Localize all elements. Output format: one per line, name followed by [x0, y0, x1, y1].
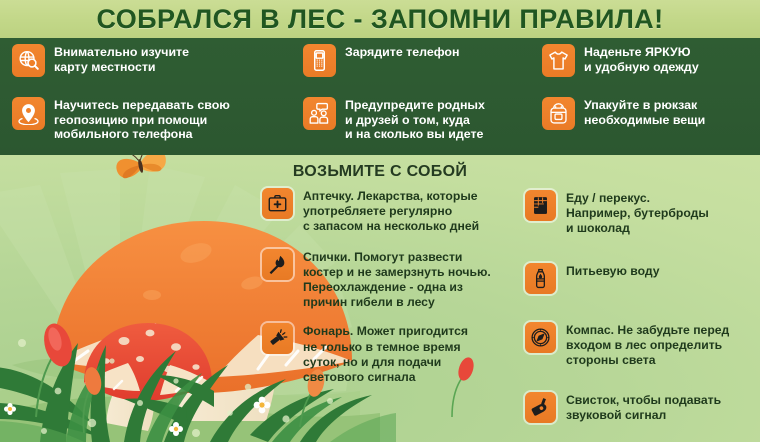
take-item-label: Питьевую воду	[566, 263, 660, 279]
rule-item-label: Зарядите телефон	[345, 44, 459, 60]
first-aid-kit-icon	[262, 188, 293, 219]
mobile-phone-icon	[303, 44, 336, 77]
rule-item-clothing: Наденьте ЯРКУЮи удобную одежду	[530, 38, 760, 93]
rule-item-label: Научитесь передавать своюгеопозицию при …	[54, 97, 230, 142]
take-item-label: Еду / перекус.Например, бутербродыи шоко…	[566, 190, 709, 237]
backpack-icon	[542, 97, 575, 130]
take-list-right: Еду / перекус.Например, бутербродыи шоко…	[525, 190, 760, 434]
take-item-whistle: Свисток, чтобы подаватьзвуковой сигнал	[525, 392, 760, 423]
globe-search-icon	[12, 44, 45, 77]
take-list-left: Аптечку. Лекарства, которыеупотребляете …	[262, 188, 512, 399]
take-item-first-aid: Аптечку. Лекарства, которыеупотребляете …	[262, 188, 512, 235]
rule-item-backpack: Упакуйте в рюкзакнеобходимые вещи	[530, 93, 760, 155]
location-pin-icon	[12, 97, 45, 130]
whistle-icon	[525, 392, 556, 423]
section-title: ВОЗЬМИТЕ С СОБОЙ	[0, 163, 760, 181]
rule-item-label: Предупредите родныхи друзей о том, кудаи…	[345, 97, 485, 142]
take-item-label: Компас. Не забудьте передвходом в лес оп…	[566, 322, 729, 369]
rule-item-label: Внимательно изучитекарту местности	[54, 44, 189, 74]
tshirt-icon	[542, 44, 575, 77]
people-chat-icon	[303, 97, 336, 130]
rules-panel: Внимательно изучитекарту местности	[0, 38, 760, 155]
rule-item-phone: Зарядите телефон	[291, 38, 530, 93]
take-item-food: Еду / перекус.Например, бутербродыи шоко…	[525, 190, 760, 237]
rule-item-map: Внимательно изучитекарту местности	[0, 38, 291, 93]
take-item-compass: Компас. Не забудьте передвходом в лес оп…	[525, 322, 760, 369]
matches-fire-icon	[262, 249, 293, 280]
page-title: СОБРАЛСЯ В ЛЕС - ЗАПОМНИ ПРАВИЛА!	[97, 6, 664, 33]
take-item-label: Аптечку. Лекарства, которыеупотребляете …	[303, 188, 479, 235]
compass-icon	[525, 322, 556, 353]
rule-item-notify: Предупредите родныхи друзей о том, кудаи…	[291, 93, 530, 155]
take-item-flashlight: Фонарь. Может пригодитсяне только в темн…	[262, 323, 512, 385]
rule-item-geoposition: Научитесь передавать своюгеопозицию при …	[0, 93, 291, 155]
take-item-matches: Спички. Помогут развестикостер и не заме…	[262, 249, 512, 311]
rule-item-label: Упакуйте в рюкзакнеобходимые вещи	[584, 97, 705, 127]
take-item-label: Свисток, чтобы подаватьзвуковой сигнал	[566, 392, 721, 423]
take-item-water: Питьевую воду	[525, 263, 760, 294]
take-item-label: Спички. Помогут развестикостер и не заме…	[303, 249, 491, 311]
infographic-poster: СОБРАЛСЯ В ЛЕС - ЗАПОМНИ ПРАВИЛА! Внимат…	[0, 0, 760, 442]
flashlight-icon	[262, 323, 293, 354]
take-item-label: Фонарь. Может пригодитсяне только в темн…	[303, 323, 468, 385]
take-with-you-lists: Аптечку. Лекарства, которыеупотребляете …	[0, 188, 760, 438]
header-band: СОБРАЛСЯ В ЛЕС - ЗАПОМНИ ПРАВИЛА!	[0, 0, 760, 38]
water-bottle-icon	[525, 263, 556, 294]
chocolate-bar-icon	[525, 190, 556, 221]
rule-item-label: Наденьте ЯРКУЮи удобную одежду	[584, 44, 699, 74]
